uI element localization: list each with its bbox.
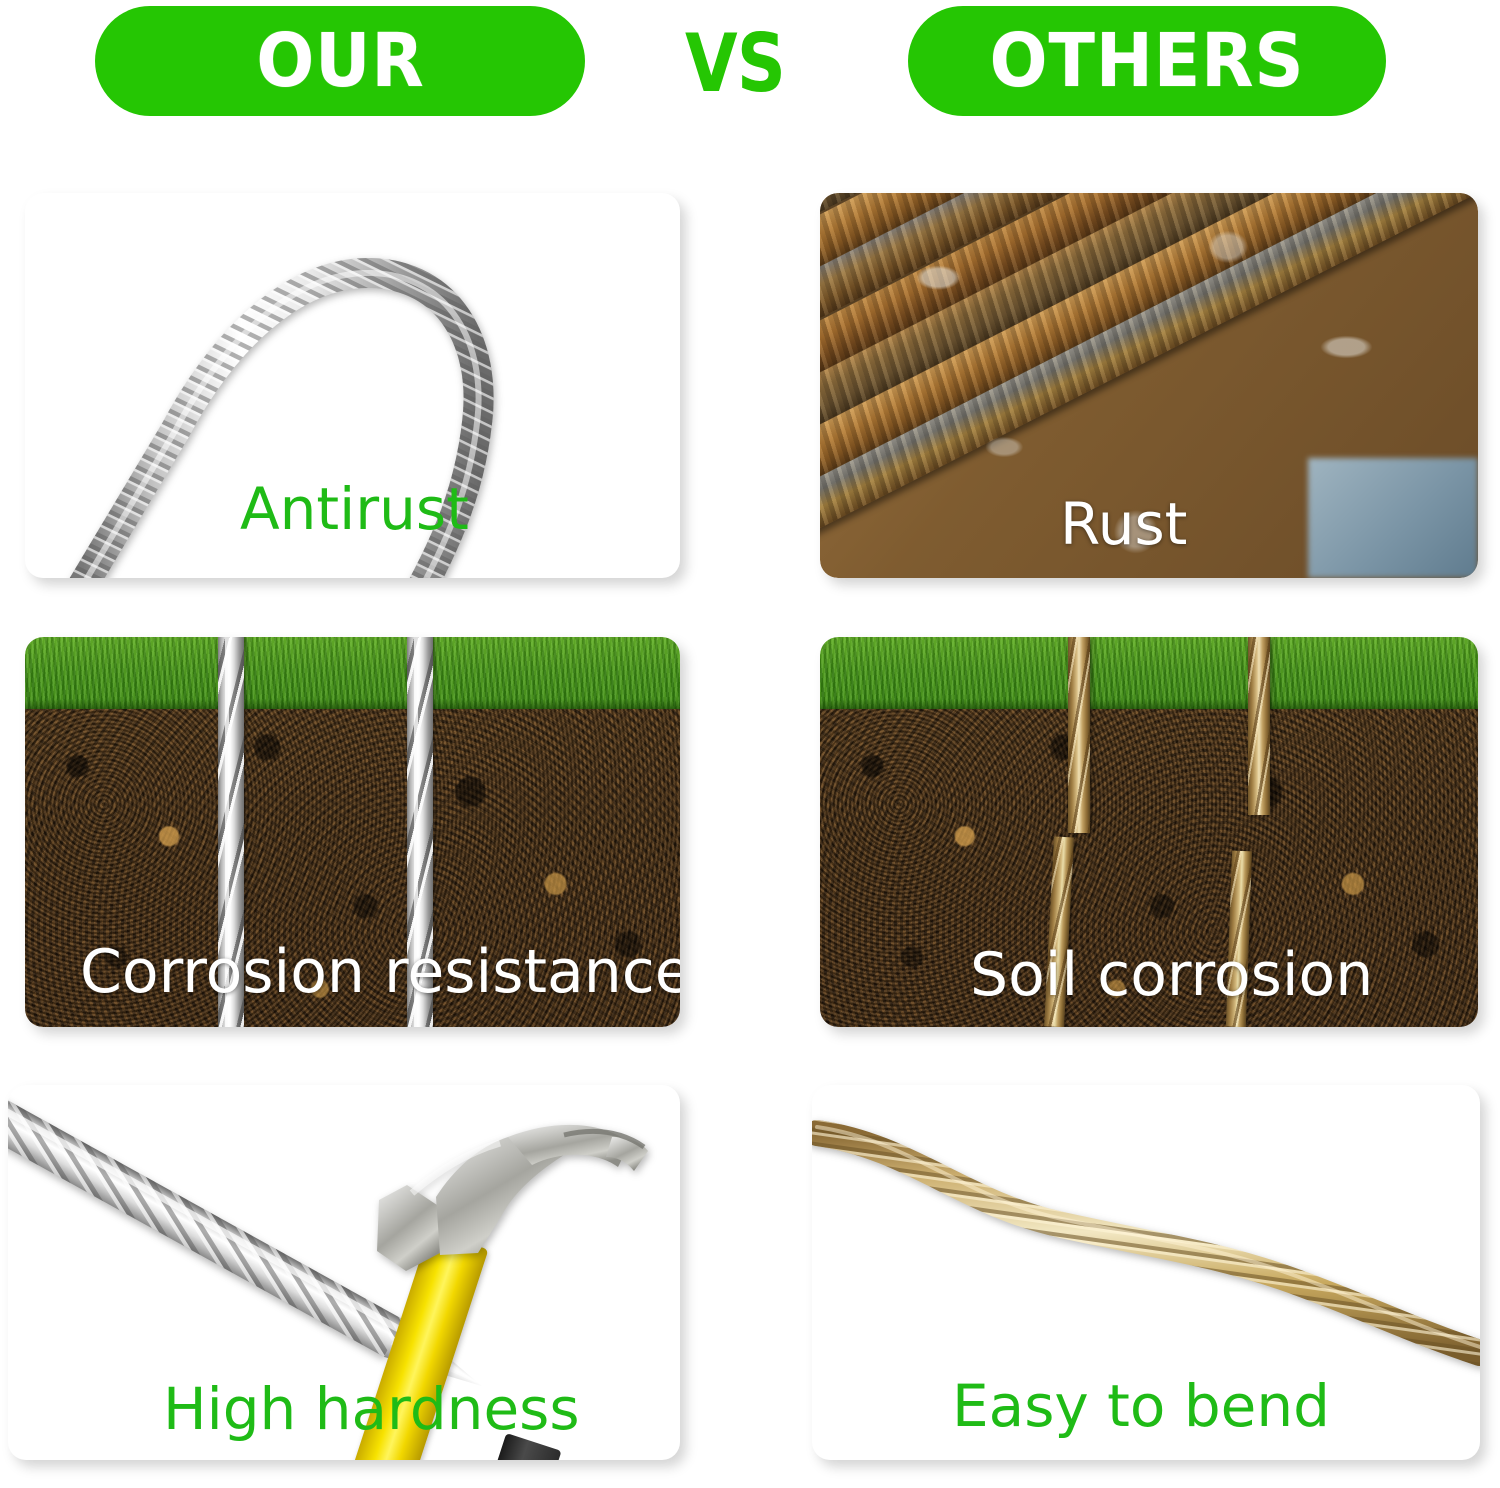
card-soil-corrosion: Soil corrosion [820,637,1478,1027]
card-rust-image [820,193,1478,578]
rusted-rebar-stack [820,193,1478,578]
corroded-stake-upper [1248,637,1270,815]
our-label: OUR [256,24,424,98]
vs-label: VS [671,14,799,114]
others-pill-badge: OTHERS [908,6,1386,116]
card-corrosion-resistance: Corrosion resistance [25,637,680,1027]
card-antirust-image [25,193,680,578]
concrete-corner [1308,458,1478,578]
card-high-hardness-image [8,1085,680,1460]
hammer-head-icon [8,1085,680,1460]
card-antirust: Antirust [25,193,680,578]
card-corrosion-resistance-image [25,637,680,1027]
our-pill-badge: OUR [95,6,585,116]
chrome-bent-rebar-icon [25,193,680,578]
card-easy-to-bend: Easy to bend [812,1085,1480,1460]
card-easy-to-bend-image [812,1085,1480,1460]
comparison-header: OUR VS OTHERS [0,0,1500,160]
steel-stake [407,637,433,1027]
grass-layer [25,637,680,709]
steel-stake [218,637,244,1027]
bent-rusted-stake-icon [812,1085,1480,1460]
corroded-stake-upper [1068,637,1090,833]
others-label: OTHERS [990,24,1305,98]
soil-layer [25,709,680,1027]
card-rust: Rust [820,193,1478,578]
soil-layer [820,709,1478,1027]
card-high-hardness: High hardness [8,1085,680,1460]
grass-layer [820,637,1478,709]
card-soil-corrosion-image [820,637,1478,1027]
